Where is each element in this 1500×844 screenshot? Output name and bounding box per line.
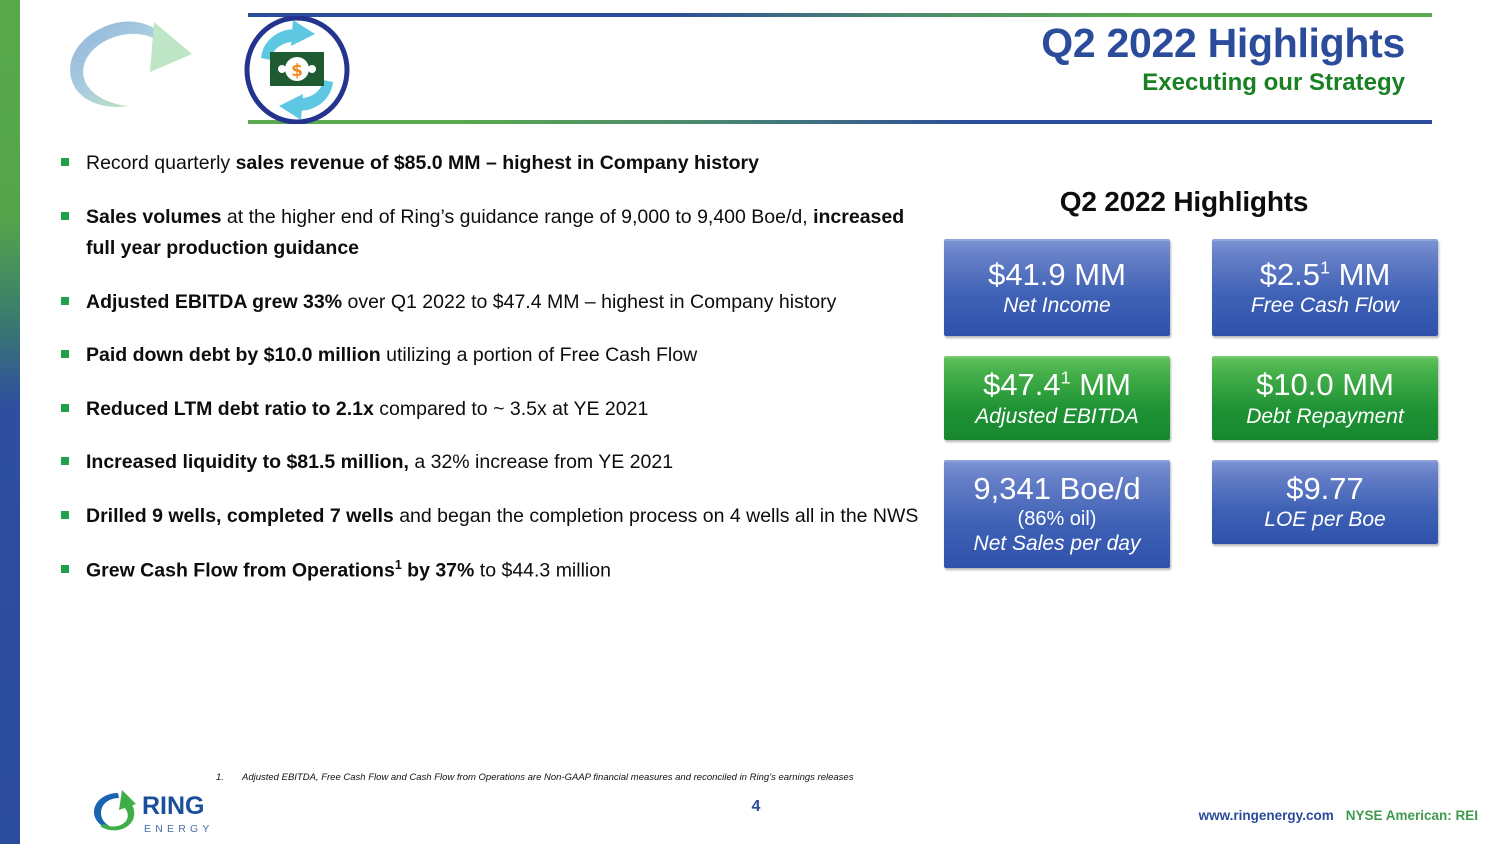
ring-energy-logo: RING ENERGY [84, 782, 224, 838]
page-title: Q2 2022 Highlights [1041, 22, 1405, 65]
bullet-text-run: over Q1 2022 to $47.4 MM – highest in Co… [342, 291, 836, 313]
metric-cell: 9,341 Boe/d(86% oil)Net Sales per day [944, 460, 1170, 568]
metric-label: Debt Repayment [1220, 404, 1430, 429]
header-top-rule [248, 13, 1432, 17]
bullet-text-run: Drilled 9 wells, completed 7 wells [86, 505, 394, 527]
bullet-item: Record quarterly sales revenue of $85.0 … [56, 148, 936, 180]
money-circulation-icon: $ [243, 16, 351, 124]
bullet-text-run: Paid down debt by $10.0 million [86, 344, 381, 366]
metric-box: $10.0 MMDebt Repayment [1212, 356, 1438, 440]
metric-cell: $9.77LOE per Boe [1212, 460, 1438, 568]
page-subtitle: Executing our Strategy [1041, 69, 1405, 98]
bullet-text-run: utilizing a portion of Free Cash Flow [381, 344, 697, 366]
metric-grid: $41.9 MMNet Income$2.51 MMFree Cash Flow… [944, 239, 1424, 568]
bullet-item: Increased liquidity to $81.5 million, a … [56, 447, 936, 479]
metric-label: Net Income [952, 293, 1162, 318]
metric-box: $9.77LOE per Boe [1212, 460, 1438, 544]
svg-text:ENERGY: ENERGY [144, 823, 214, 835]
website-link[interactable]: www.ringenergy.com [1199, 808, 1334, 823]
bullet-text-run: Sales volumes [86, 206, 222, 228]
circular-arrow-icon [58, 14, 208, 119]
bullet-text-run: by 37% [402, 559, 475, 581]
bullet-square-icon [61, 212, 69, 220]
svg-text:$: $ [291, 61, 303, 81]
bullet-text-run: sales revenue of $85.0 MM – highest in C… [236, 152, 759, 174]
footnote-text: Adjusted EBITDA, Free Cash Flow and Cash… [242, 772, 853, 783]
metric-value: $10.0 MM [1220, 367, 1430, 404]
metric-value: $41.9 MM [952, 257, 1162, 294]
bullet-item: Grew Cash Flow from Operations1 by 37% t… [56, 555, 936, 587]
bullet-text-run: a 32% increase from YE 2021 [409, 451, 673, 473]
metric-box: $41.9 MMNet Income [944, 239, 1170, 336]
metric-cell: $10.0 MMDebt Repayment [1212, 356, 1438, 440]
bullet-text-run: Increased liquidity to $81.5 million, [86, 451, 409, 473]
metric-value: $2.51 MM [1220, 257, 1430, 294]
metrics-panel-title: Q2 2022 Highlights [944, 186, 1424, 218]
metric-value: 9,341 Boe/d [952, 471, 1162, 508]
slide-header: $ Q2 2022 Highlights Executing our Strat… [0, 0, 1500, 140]
header-title-block: Q2 2022 Highlights Executing our Strateg… [1041, 22, 1405, 98]
metric-label: Net Sales per day [952, 531, 1162, 556]
bullet-square-icon [61, 350, 69, 358]
bullet-item: Drilled 9 wells, completed 7 wells and b… [56, 501, 936, 533]
bullet-text-run: and began the completion process on 4 we… [394, 505, 919, 527]
metric-cell: $41.9 MMNet Income [944, 239, 1170, 336]
bullet-square-icon [61, 457, 69, 465]
bullet-item: Sales volumes at the higher end of Ring’… [56, 202, 936, 265]
metric-note: (86% oil) [952, 507, 1162, 531]
bullet-text-run: Adjusted EBITDA grew 33% [86, 291, 342, 313]
footer-contact: www.ringenergy.comNYSE American: REI [1199, 808, 1478, 823]
bullet-text-run: to $44.3 million [474, 559, 611, 581]
bullet-text-run: at the higher end of Ring’s guidance ran… [222, 206, 814, 228]
metrics-panel: Q2 2022 Highlights $41.9 MMNet Income$2.… [944, 186, 1424, 568]
bullet-square-icon [61, 158, 69, 166]
bullet-text-run: 1 [395, 558, 402, 572]
bullet-item: Paid down debt by $10.0 million utilizin… [56, 340, 936, 372]
footnote-number: 1. [216, 772, 242, 783]
metric-value: $47.41 MM [952, 367, 1162, 404]
metric-box: 9,341 Boe/d(86% oil)Net Sales per day [944, 460, 1170, 568]
metric-box: $47.41 MMAdjusted EBITDA [944, 356, 1170, 440]
metric-footnote-marker: 1 [1320, 257, 1330, 277]
metric-cell: $2.51 MMFree Cash Flow [1212, 239, 1438, 336]
slide: $ Q2 2022 Highlights Executing our Strat… [0, 0, 1500, 844]
bullet-square-icon [61, 297, 69, 305]
bullet-text-run: compared to ~ 3.5x at YE 2021 [374, 398, 648, 420]
page-number: 4 [740, 798, 772, 816]
bullet-item: Adjusted EBITDA grew 33% over Q1 2022 to… [56, 287, 936, 319]
metric-box: $2.51 MMFree Cash Flow [1212, 239, 1438, 336]
bullet-text-run: Grew Cash Flow from Operations [86, 559, 395, 581]
header-bottom-rule [248, 120, 1432, 124]
bullet-text-run: Reduced LTM debt ratio to 2.1x [86, 398, 374, 420]
svg-text:RING: RING [142, 792, 205, 820]
metric-label: Free Cash Flow [1220, 293, 1430, 318]
metric-cell: $47.41 MMAdjusted EBITDA [944, 356, 1170, 440]
highlights-bullet-list: Record quarterly sales revenue of $85.0 … [56, 148, 936, 609]
bullet-square-icon [61, 511, 69, 519]
bullet-item: Reduced LTM debt ratio to 2.1x compared … [56, 394, 936, 426]
bullet-text-run: Record quarterly [86, 152, 236, 174]
metric-value: $9.77 [1220, 471, 1430, 508]
bullet-square-icon [61, 404, 69, 412]
metric-label: LOE per Boe [1220, 507, 1430, 532]
footnote: 1.Adjusted EBITDA, Free Cash Flow and Ca… [216, 772, 936, 783]
metric-label: Adjusted EBITDA [952, 404, 1162, 429]
stock-ticker: NYSE American: REI [1346, 808, 1478, 823]
bullet-square-icon [61, 565, 69, 573]
metric-footnote-marker: 1 [1061, 368, 1071, 388]
